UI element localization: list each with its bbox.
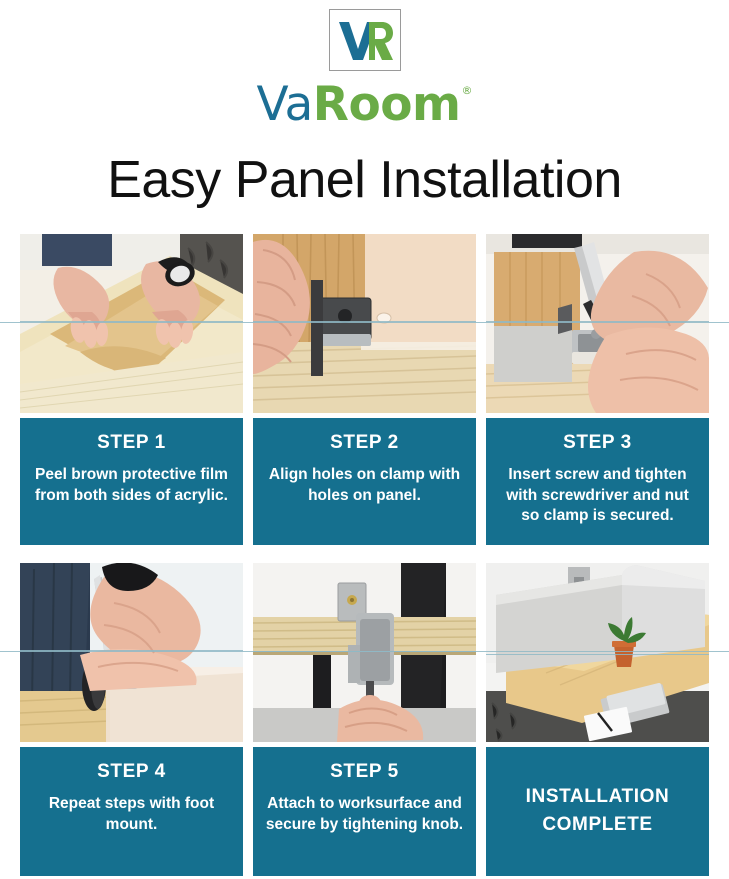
step-card-4: STEP 4 Repeat steps with foot mount.: [20, 563, 243, 876]
step-text-complete: INSTALLATION COMPLETE: [496, 761, 699, 860]
photo-foot-mount: [20, 563, 243, 742]
steps-row-1: STEP 1 Peel brown protective film from b…: [20, 234, 710, 545]
step-text-1: Peel brown protective film from both sid…: [30, 465, 233, 506]
photo-installation-complete: [486, 563, 709, 742]
step-label-3: STEP 3: [496, 432, 699, 454]
installation-guide-page: VaRoom® Easy Panel Installation: [0, 0, 729, 879]
caption-step-5: STEP 5 Attach to worksurface and secure …: [253, 747, 476, 876]
vr-monogram-icon: [336, 18, 394, 62]
photo-peel-protective-film: [20, 234, 243, 413]
step-text-5: Attach to worksurface and secure by tigh…: [263, 794, 466, 835]
vr-logo-mark: [329, 9, 401, 71]
caption-complete: INSTALLATION COMPLETE: [486, 747, 709, 876]
wordmark-va: Va: [256, 81, 312, 128]
step-card-2: STEP 2 Align holes on clamp with holes o…: [253, 234, 476, 545]
registered-trademark-icon: ®: [462, 85, 473, 96]
step-card-1: STEP 1 Peel brown protective film from b…: [20, 234, 243, 545]
caption-step-1: STEP 1 Peel brown protective film from b…: [20, 418, 243, 545]
caption-step-2: STEP 2 Align holes on clamp with holes o…: [253, 418, 476, 545]
wordmark-room: Room: [313, 81, 461, 128]
step-card-5: STEP 5 Attach to worksurface and secure …: [253, 563, 476, 876]
caption-step-4: STEP 4 Repeat steps with foot mount.: [20, 747, 243, 876]
photo-align-clamp-holes: [253, 234, 476, 413]
step-card-complete: INSTALLATION COMPLETE: [486, 563, 709, 876]
step-text-4: Repeat steps with foot mount.: [30, 794, 233, 835]
step-text-3: Insert screw and tighten with screwdrive…: [496, 465, 699, 527]
step-label-2: STEP 2: [263, 432, 466, 454]
step-label-1: STEP 1: [30, 432, 233, 454]
photo-insert-screw: [486, 234, 709, 413]
photo-attach-worksurface: [253, 563, 476, 742]
step-text-2: Align holes on clamp with holes on panel…: [263, 465, 466, 506]
step-label-5: STEP 5: [263, 761, 466, 783]
divider-line-top: [0, 322, 729, 323]
page-title: Easy Panel Installation: [0, 150, 729, 210]
divider-line-bottom: [0, 651, 729, 652]
steps-row-2: STEP 4 Repeat steps with foot mount.: [20, 563, 710, 876]
varoom-wordmark: VaRoom®: [256, 81, 472, 128]
brand-header: VaRoom®: [0, 0, 729, 128]
step-label-4: STEP 4: [30, 761, 233, 783]
step-card-3: STEP 3 Insert screw and tighten with scr…: [486, 234, 709, 545]
caption-step-3: STEP 3 Insert screw and tighten with scr…: [486, 418, 709, 545]
